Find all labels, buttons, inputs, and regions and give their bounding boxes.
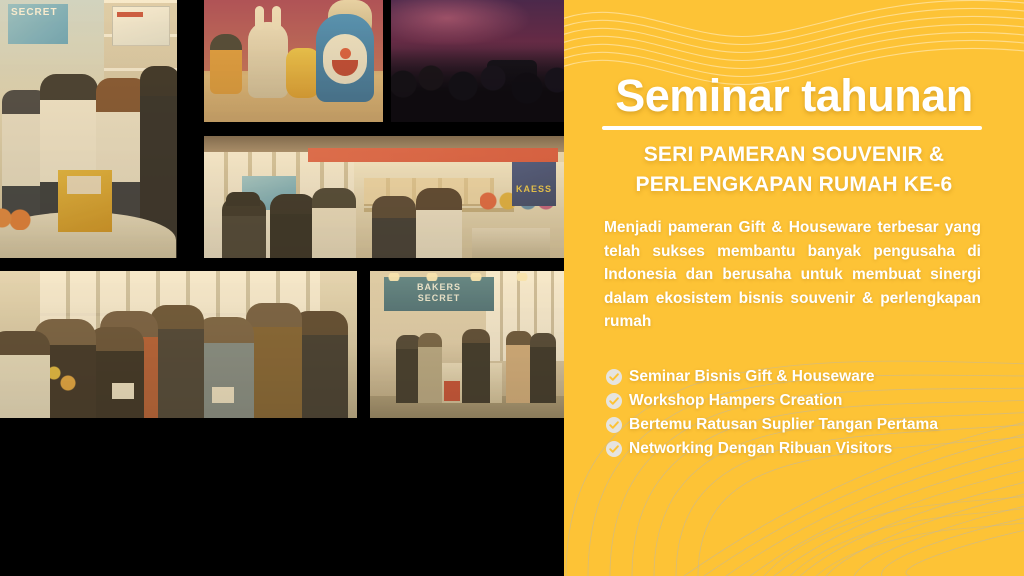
list-item-label: Workshop Hampers Creation (629, 390, 842, 411)
panel-content: Seminar tahunan SERI PAMERAN SOUVENIR & … (601, 0, 987, 576)
list-item: Workshop Hampers Creation (606, 390, 982, 411)
list-item-label: Networking Dengan Ribuan Visitors (629, 438, 892, 459)
list-item: Seminar Bisnis Gift & Houseware (606, 366, 982, 387)
list-item: Bertemu Ratusan Suplier Tangan Pertama (606, 414, 982, 435)
photo-warm-wash (391, 0, 564, 122)
poster: SECRET (0, 0, 1024, 576)
page-title: Seminar tahunan (601, 70, 987, 122)
list-item-label: Seminar Bisnis Gift & Houseware (629, 366, 875, 387)
check-circle-icon (606, 393, 622, 409)
photo-expo-aisle-booths: KAESS (204, 136, 564, 258)
list-item: Networking Dengan Ribuan Visitors (606, 438, 982, 459)
photo-tint (0, 271, 357, 418)
photo-tint (204, 136, 564, 258)
photo-plush-character-display (204, 0, 383, 122)
body-paragraph: Menjadi pameran Gift & Houseware terbesa… (604, 216, 981, 334)
title-divider (602, 126, 982, 130)
check-circle-icon (606, 417, 622, 433)
photo-tint (204, 0, 383, 122)
photo-bakers-secret-booth: BAKERS SECRET (370, 271, 564, 418)
photo-expo-booth-visitors: SECRET (0, 0, 177, 258)
info-panel: Seminar tahunan SERI PAMERAN SOUVENIR & … (564, 0, 1024, 576)
photo-seminar-audience (391, 0, 564, 122)
page-subtitle: SERI PAMERAN SOUVENIR & PERLENGKAPAN RUM… (601, 140, 987, 200)
feature-list: Seminar Bisnis Gift & Houseware Workshop… (606, 366, 982, 462)
subtitle-line-1: SERI PAMERAN SOUVENIR & (601, 140, 987, 170)
photo-tint (370, 271, 564, 418)
check-circle-icon (606, 441, 622, 457)
list-item-label: Bertemu Ratusan Suplier Tangan Pertama (629, 414, 938, 435)
subtitle-line-2: PERLENGKAPAN RUMAH KE-6 (601, 170, 987, 200)
photo-business-delegation-group (0, 271, 357, 418)
check-circle-icon (606, 369, 622, 385)
photo-collage: SECRET (0, 0, 564, 576)
photo-tint (0, 0, 177, 258)
